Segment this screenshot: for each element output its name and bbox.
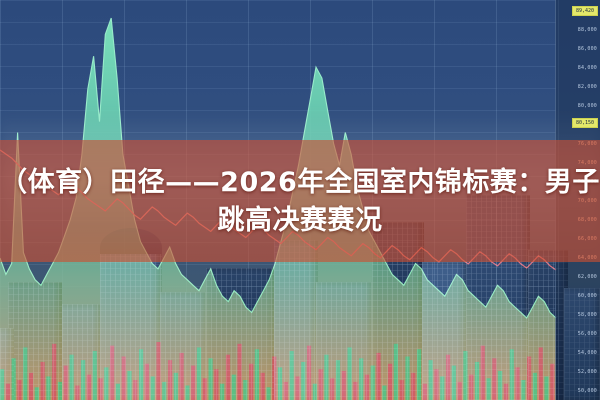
headline-band bbox=[0, 140, 600, 262]
price-axis-tick: 82,000 bbox=[578, 84, 597, 90]
price-axis-tick: 58,000 bbox=[578, 312, 597, 318]
price-axis-tick: 86,000 bbox=[578, 46, 597, 52]
price-axis-tick: 54,000 bbox=[578, 350, 597, 356]
price-axis-tick: 62,000 bbox=[578, 274, 597, 280]
secondary-price-tag: 80,150 bbox=[572, 118, 598, 128]
price-axis-tick: 88,000 bbox=[578, 27, 597, 33]
price-axis-tick: 84,000 bbox=[578, 65, 597, 71]
price-axis-tick: 56,000 bbox=[578, 331, 597, 337]
price-axis-tick: 50,000 bbox=[578, 388, 597, 394]
price-axis-tick: 80,000 bbox=[578, 103, 597, 109]
current-price-tag: 89,420 bbox=[572, 6, 598, 16]
news-thumbnail: 90,00088,00086,00084,00082,00080,00078,0… bbox=[0, 0, 600, 400]
price-axis-tick: 52,000 bbox=[578, 369, 597, 375]
price-axis-tick: 60,000 bbox=[578, 293, 597, 299]
